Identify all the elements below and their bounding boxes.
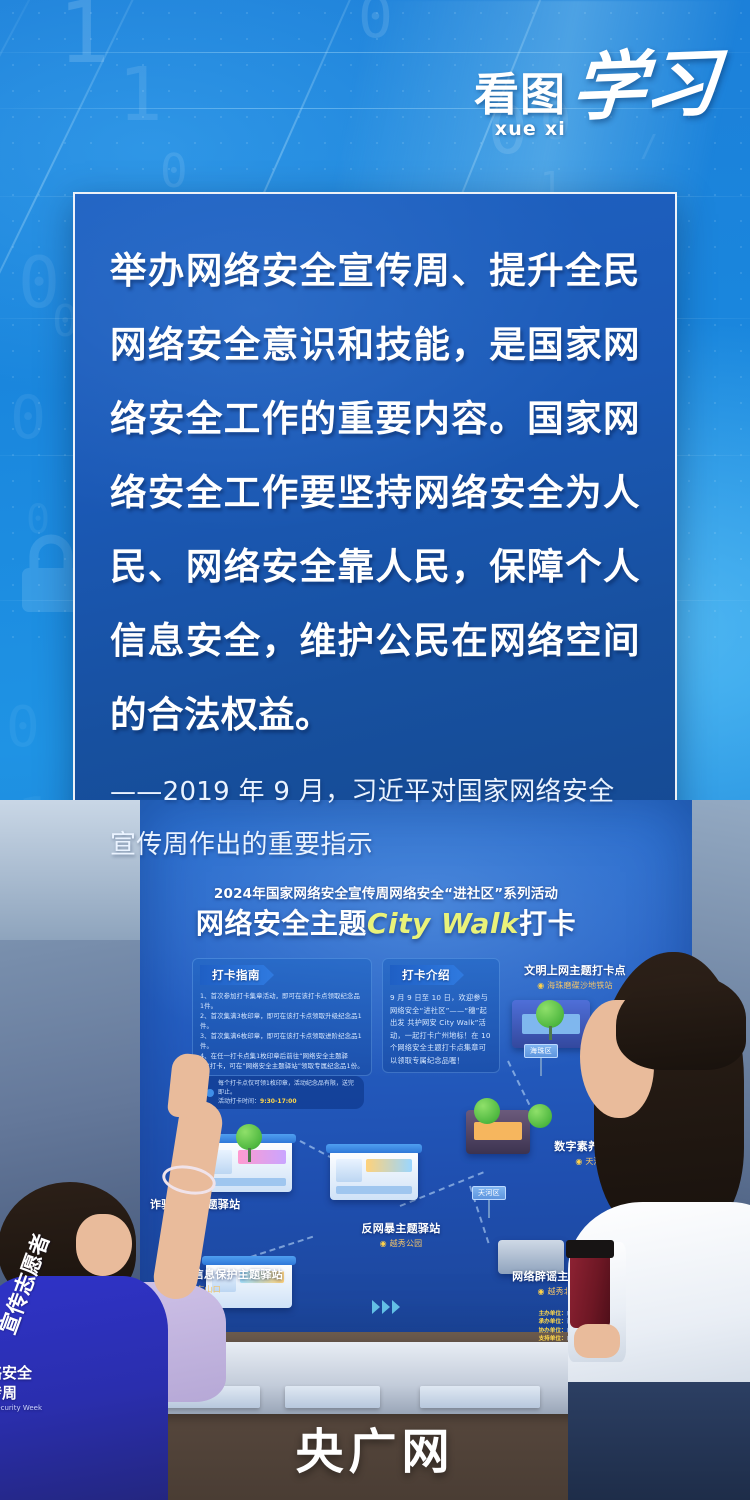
chevron-arrows <box>372 1300 400 1314</box>
intro-card-paragraph: 9 月 9 日至 10 日，欢迎参与网络安全“进社区”——“穗”起出发 共护网安… <box>390 992 492 1067</box>
district-label: 海珠区 <box>524 1044 558 1058</box>
list-item: 1、首次参加打卡集章活动，即可在该打卡点领取纪念品1件。 <box>200 991 364 1011</box>
poster-root: 1 1 0 0 0 0 1 / 0 0 0 1 0 0 1 0 / 1 看图 学… <box>0 0 750 1500</box>
chevron-right-icon <box>382 1300 390 1314</box>
logo-kantu-text: 看图 <box>474 74 566 117</box>
map-pin-icon: ◉ <box>538 1287 545 1296</box>
vest-text-cybersecurity: 网络安全 <box>0 1362 32 1383</box>
guide-note-time: 9:30-17:00 <box>260 1098 297 1105</box>
guide-note-time-label: 活动打卡时间： <box>218 1098 260 1105</box>
sign-post <box>540 1058 542 1076</box>
poi-name: 反网暴主题驿站 <box>326 1220 476 1236</box>
banner-title-cn2: 打卡 <box>519 907 576 940</box>
district-sign-tianhe: 天河区 <box>472 1186 506 1218</box>
quote-card: 举办网络安全宣传周、提升全民网络安全意识和技能，是国家网络安全工作的重要内容。国… <box>73 192 677 840</box>
banner-title-cn1: 网络安全主题 <box>196 907 367 940</box>
poi-location-text: 越秀公园 <box>390 1239 423 1248</box>
tree-trunk <box>549 1026 552 1040</box>
quote-attribution: ——2019 年 9 月，习近平对国家网络安全宣传周作出的重要指示 <box>110 766 640 872</box>
guide-card-tag: 打卡指南 <box>200 965 274 985</box>
booth-counter <box>336 1186 412 1194</box>
list-item: 2、首次集满3枚印章，即可在该打卡点领取升级纪念品1件。 <box>200 1011 364 1031</box>
watermark-cnr: 央广网 <box>0 1412 750 1482</box>
guide-note-text: 每个打卡点仅可领1枚印章，活动纪念品有限，送完即止。 活动打卡时间：9:30-1… <box>218 1079 358 1106</box>
landmark-facade <box>474 1122 522 1140</box>
district-sign-haizhu: 海珠区 <box>524 1044 558 1076</box>
intro-card: 打卡介绍 9 月 9 日至 10 日，欢迎参与网络安全“进社区”——“穗”起出发… <box>382 958 500 1073</box>
guide-card: 打卡指南 1、首次参加打卡集章活动，即可在该打卡点领取纪念品1件。 2、首次集满… <box>192 958 372 1076</box>
visitor-hand <box>574 1324 620 1358</box>
cup-lid <box>566 1240 614 1258</box>
poi-label-fanwangbao: 反网暴主题驿站 ◉ 越秀公园 <box>326 1220 476 1249</box>
list-item: 3、首次集满6枚印章，即可在该打卡点领取进阶纪念品1件。 <box>200 1031 364 1051</box>
quote-text: 举办网络安全宣传周、提升全民网络安全意识和技能，是国家网络安全工作的重要内容。国… <box>110 234 640 752</box>
intro-card-tag: 打卡介绍 <box>390 965 464 985</box>
vest-text-english: Cybersecurity Week <box>0 1404 42 1412</box>
guide-note-body: 每个打卡点仅可领1枚印章，活动纪念品有限，送完即止。 <box>218 1080 354 1096</box>
sign-post <box>488 1200 490 1218</box>
list-item: 4、在任一打卡点集1枚印章后前往“网络安全主题驿站”打卡，可在“网络安全主题驿站… <box>200 1051 364 1071</box>
tree-icon <box>236 1124 262 1150</box>
district-label: 天河区 <box>472 1186 506 1200</box>
guide-card-note: 每个打卡点仅可领1枚印章，活动纪念品有限，送完即止。 活动打卡时间：9:30-1… <box>200 1076 364 1109</box>
credit-label: 主办单位： <box>539 1311 567 1317</box>
booth-illustration <box>330 1150 418 1200</box>
tree-icon <box>536 1000 564 1028</box>
coffee-cup <box>570 1252 610 1328</box>
banner-title-en: City Walk <box>367 907 519 940</box>
tree-icon <box>528 1104 552 1128</box>
chevron-right-icon <box>392 1300 400 1314</box>
booth-roof <box>326 1144 422 1153</box>
guide-card-list: 1、首次参加打卡集章活动，即可在该打卡点领取纪念品1件。 2、首次集满3枚印章，… <box>200 991 364 1071</box>
poi-location: ◉ 越秀公园 <box>326 1238 476 1249</box>
chevron-right-icon <box>372 1300 380 1314</box>
leaflet-stack <box>420 1386 540 1408</box>
leaflet-stack <box>285 1386 380 1408</box>
banner-subtitle: 2024年国家网络安全宣传周网络安全“进社区”系列活动 <box>196 882 576 902</box>
booth-screen <box>336 1159 362 1182</box>
credit-label: 承办单位： <box>539 1319 567 1325</box>
brand-logo: 看图 学习 xue xi <box>474 56 716 140</box>
map-pin-icon: ◉ <box>380 1239 387 1248</box>
map-pin-icon: ◉ <box>537 981 544 990</box>
banner-title: 网络安全主题City Walk打卡 <box>190 902 582 942</box>
logo-xuexi-script: 学习 <box>570 54 719 120</box>
vest-text-week: 宣传周 <box>0 1382 17 1403</box>
credit-label: 协办单位： <box>539 1328 567 1334</box>
credit-label: 支持单位： <box>539 1336 567 1342</box>
booth-poster <box>366 1159 412 1172</box>
tree-icon <box>474 1098 500 1124</box>
